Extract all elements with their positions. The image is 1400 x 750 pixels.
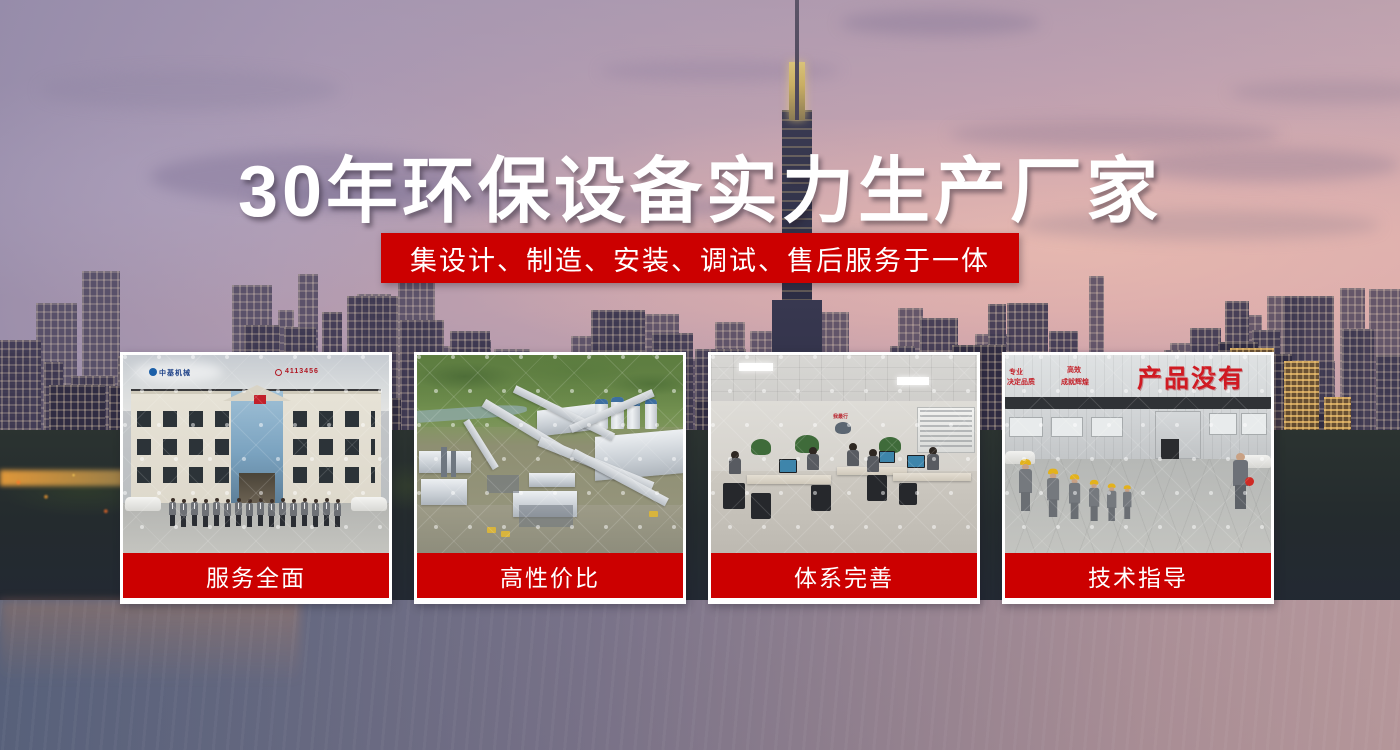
monitor (907, 455, 925, 468)
factory-yard (1005, 459, 1271, 553)
office-worker (847, 443, 859, 467)
factory-slogan-small: 决定品质 (1007, 379, 1035, 388)
smokestack (441, 447, 447, 477)
office-worker (807, 447, 819, 471)
subtitle-text: 集设计、制造、安装、调试、售后服务于一体 (410, 239, 990, 278)
office-interior-scene: 我最行 (711, 355, 977, 553)
office-desk (747, 475, 831, 484)
factory-slogan-large: 产品没有 (1137, 359, 1245, 395)
staff-member (301, 498, 308, 526)
office-window-blinds (917, 407, 975, 453)
factory-worker (1123, 485, 1131, 519)
subtitle-banner: 集设计、制造、安装、调试、售后服务于一体 (381, 233, 1019, 283)
factory-worker (1019, 459, 1032, 511)
factory-awning (1005, 397, 1271, 409)
office-worker (729, 451, 741, 475)
wall-poster: 我最行 (829, 413, 857, 437)
factory-slogan-small: 高效 (1067, 367, 1081, 376)
plant-structure (519, 505, 573, 527)
feature-card-system[interactable]: 我最行 (708, 352, 980, 604)
staff-lineup (123, 498, 389, 538)
factory-window (1009, 417, 1043, 437)
office-worker (927, 447, 939, 471)
ceiling-light (897, 377, 929, 385)
poster-figure-icon (835, 422, 851, 434)
office-chair (867, 475, 887, 501)
staff-member (334, 499, 341, 527)
laptop-screen (779, 459, 797, 473)
factory-slogan-small: 专业 (1009, 369, 1023, 378)
feature-card-guidance[interactable]: 产品没有 专业 决定品质 高效 成就辉煌 (1002, 352, 1274, 604)
factory-window (1241, 413, 1267, 435)
staff-member (180, 499, 187, 527)
company-phone: 4113456 (285, 368, 319, 375)
factory-worker (1089, 480, 1099, 521)
staff-member (257, 498, 264, 526)
staff-member (202, 499, 209, 527)
office-chair (723, 483, 745, 509)
office-chair (751, 493, 771, 519)
factory-window (1051, 417, 1083, 437)
card-caption: 体系完善 (711, 553, 977, 598)
safety-helmet-icon (1245, 477, 1254, 486)
staff-member (246, 499, 253, 527)
excavator (649, 511, 658, 517)
ceiling-light (739, 363, 773, 371)
plant-structure (487, 475, 519, 493)
office-desk (893, 473, 971, 481)
monitor (879, 451, 895, 463)
staff-member (224, 499, 231, 527)
feature-card-value[interactable]: 高性价比 (414, 352, 686, 604)
aerial-plant-scene (417, 355, 683, 553)
feature-card-service[interactable]: 中基机械 4113456 服务全面 (120, 352, 392, 604)
card-caption: 技术指导 (1005, 553, 1271, 598)
potted-plant (751, 439, 771, 455)
factory-worker (1047, 469, 1059, 517)
staff-member (213, 498, 220, 526)
factory-worker (1069, 474, 1080, 519)
page-title: 30年环保设备实力生产厂家 (0, 132, 1400, 237)
factory-exterior-scene: 产品没有 专业 决定品质 高效 成就辉煌 (1005, 355, 1271, 553)
staff-member (268, 499, 275, 527)
staff-member (169, 498, 176, 526)
poster-text: 我最行 (833, 413, 848, 420)
staff-member (235, 498, 242, 526)
staff-member (312, 499, 319, 527)
staff-member (279, 498, 286, 526)
office-building-scene: 中基机械 4113456 (123, 355, 389, 553)
plant-building (529, 473, 575, 487)
card-photo-office-building: 中基机械 4113456 (123, 355, 389, 553)
smokestack (451, 451, 456, 477)
company-logo-icon (149, 368, 157, 376)
staff-member (191, 498, 198, 526)
feature-card-row: 中基机械 4113456 服务全面 (120, 352, 1277, 604)
staff-member (290, 499, 297, 527)
card-photo-production-base (417, 355, 683, 553)
staff-member (323, 498, 330, 526)
card-photo-office-interior: 我最行 (711, 355, 977, 553)
office-worker (867, 449, 879, 473)
instructor (1233, 453, 1248, 509)
phone-icon (275, 369, 282, 376)
plant-building (421, 479, 467, 505)
card-caption: 高性价比 (417, 553, 683, 598)
hero-content: 30年环保设备实力生产厂家 集设计、制造、安装、调试、售后服务于一体 (0, 0, 1400, 750)
storage-silo (645, 399, 657, 429)
card-photo-factory-workers: 产品没有 专业 决定品质 高效 成就辉煌 (1005, 355, 1271, 553)
factory-window (1091, 417, 1123, 437)
factory-window (1209, 413, 1237, 435)
card-caption: 服务全面 (123, 553, 389, 598)
excavator (487, 527, 496, 533)
national-flag (254, 395, 266, 404)
office-chair (811, 485, 831, 511)
factory-worker (1107, 484, 1116, 521)
excavator (501, 531, 510, 537)
company-signage: 中基机械 (159, 368, 191, 378)
factory-slogan-small: 成就辉煌 (1061, 379, 1089, 388)
office-chair (899, 483, 917, 505)
